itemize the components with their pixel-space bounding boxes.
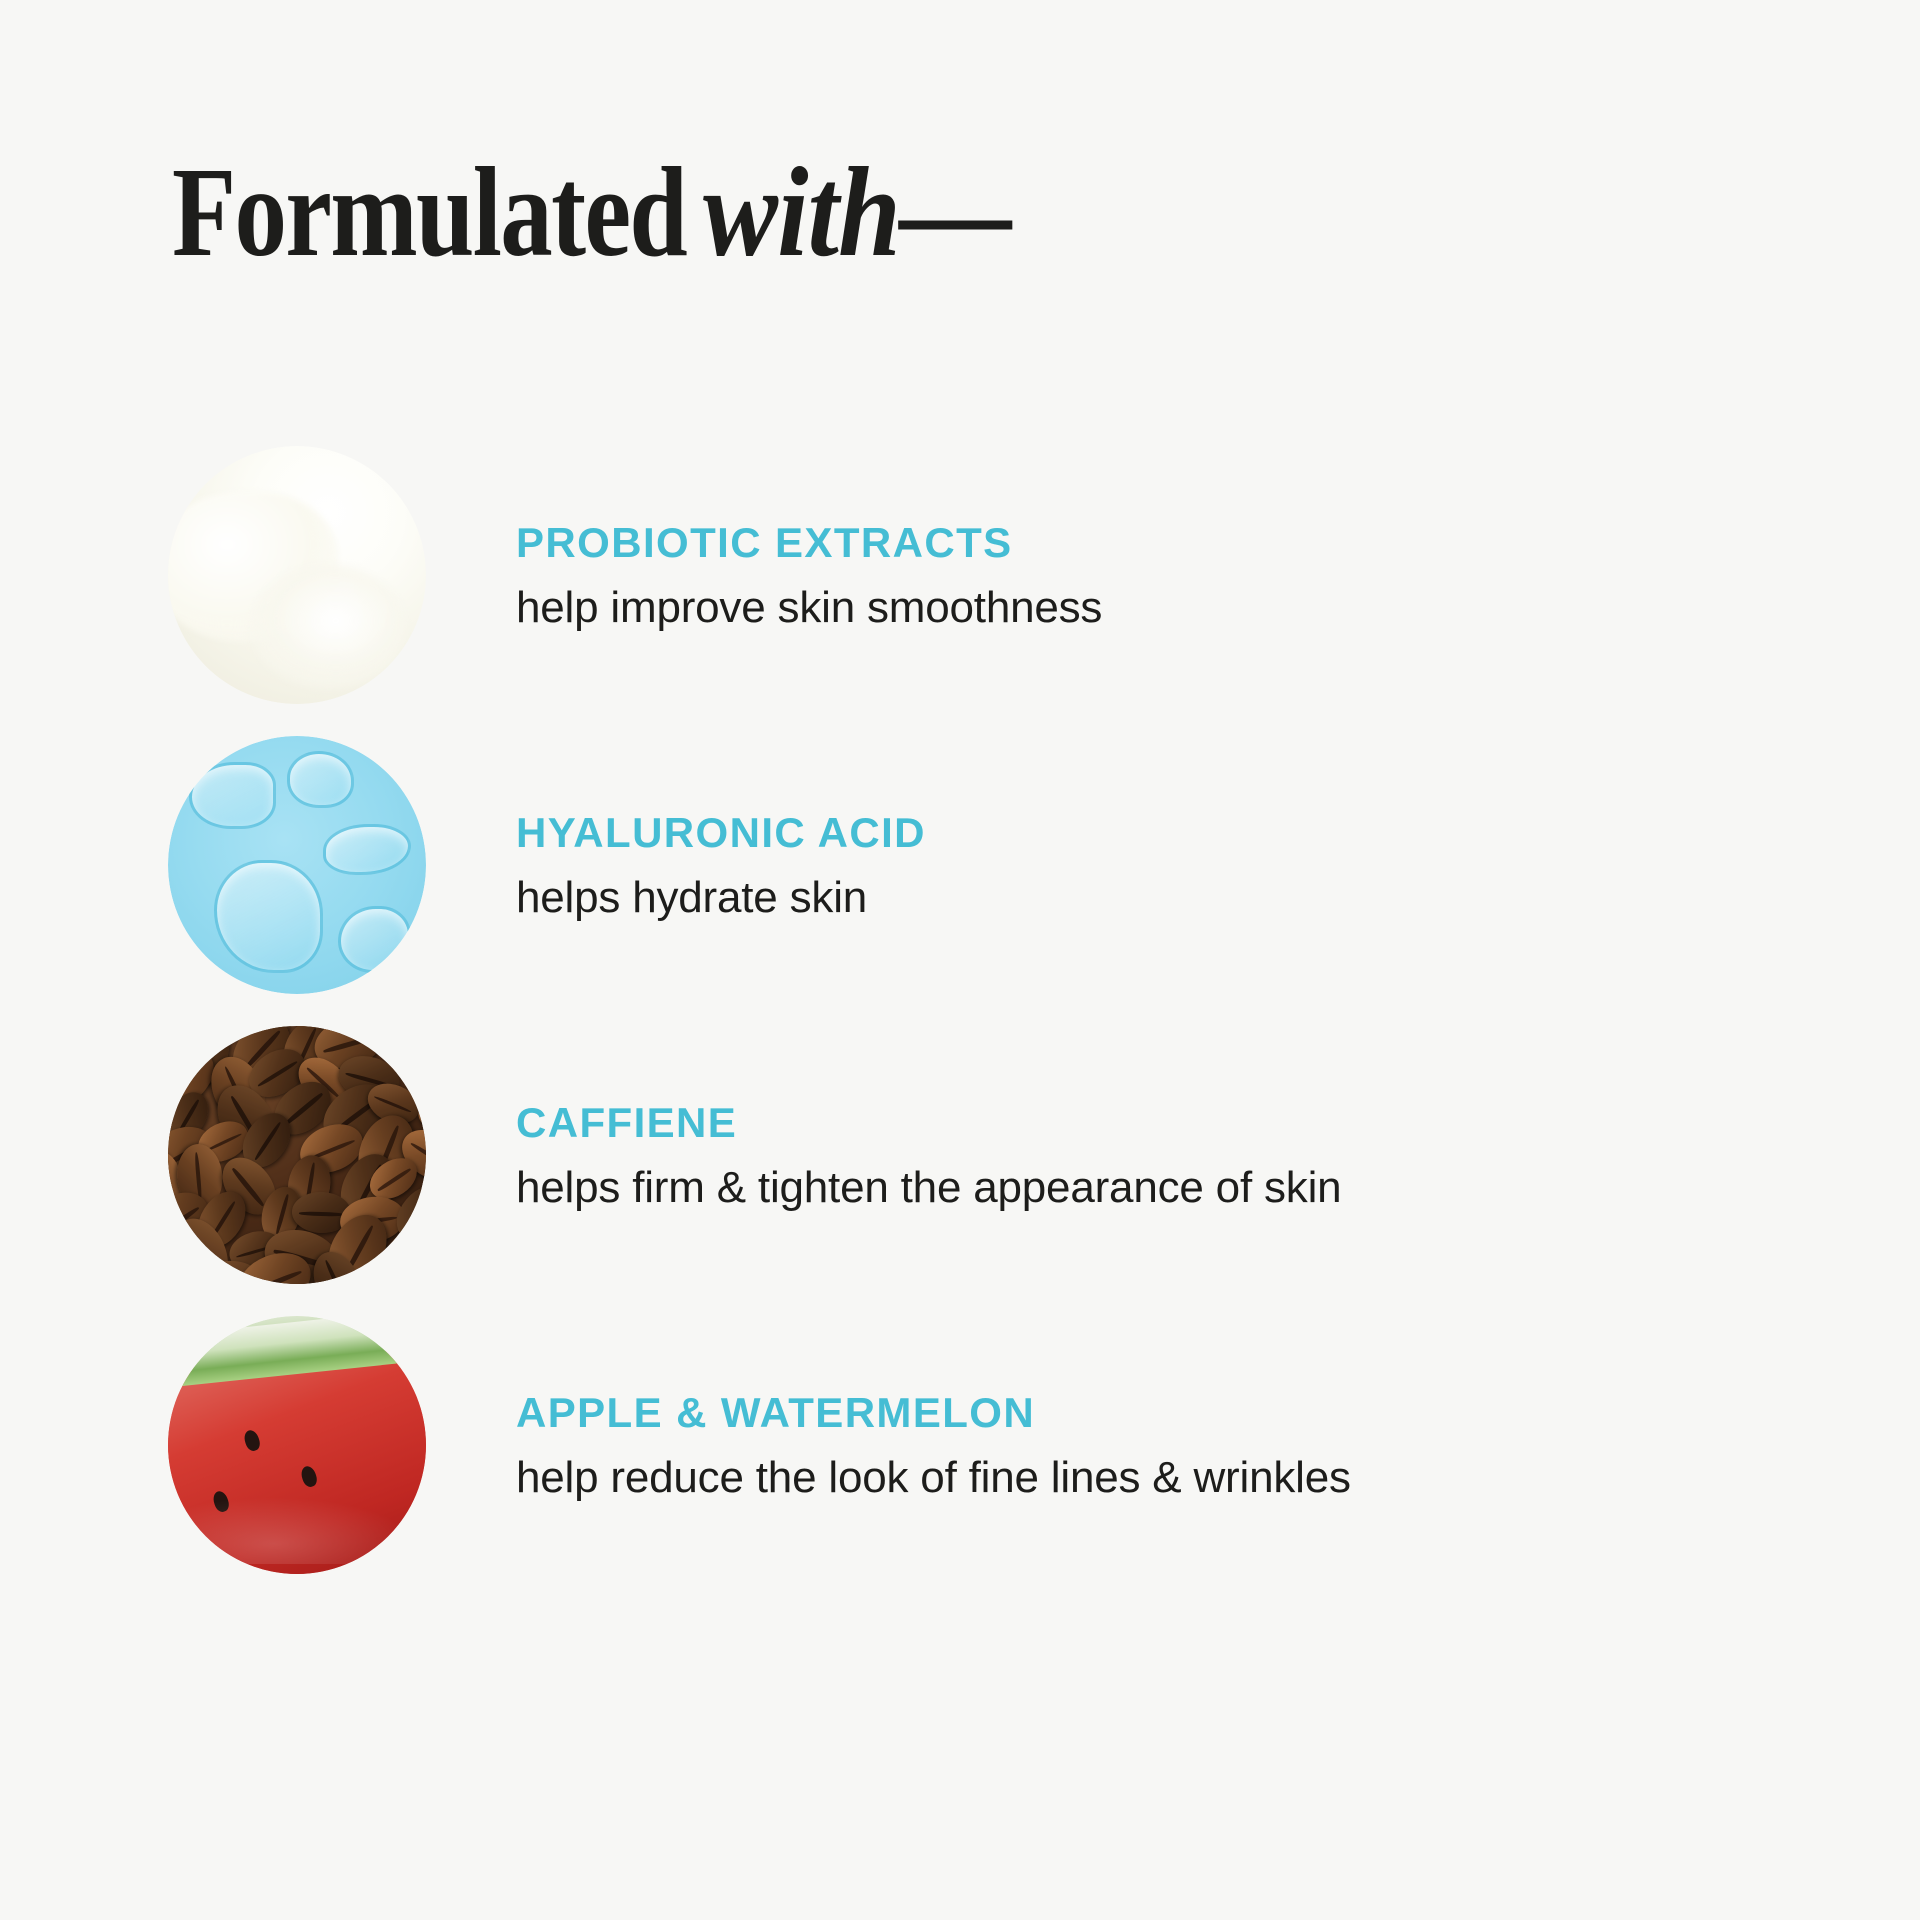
list-item: APPLE & WATERMELON help reduce the look … (0, 1300, 1920, 1590)
ingredient-text-block: CAFFIENE helps firm & tighten the appear… (516, 1095, 1341, 1215)
blue-gel-droplets-icon (168, 736, 426, 994)
gel-droplet-icon (214, 860, 322, 974)
page-title-main: Formulated (172, 148, 686, 276)
page-title-italic: with— (703, 148, 1012, 276)
gel-droplet-icon (287, 751, 354, 808)
list-item: PROBIOTIC EXTRACTS help improve skin smo… (0, 430, 1920, 720)
ingredient-list: PROBIOTIC EXTRACTS help improve skin smo… (0, 430, 1920, 1590)
watermelon-highlight (178, 1497, 415, 1564)
gel-droplet-icon (189, 762, 277, 829)
ingredient-text-block: PROBIOTIC EXTRACTS help improve skin smo… (516, 515, 1102, 635)
ingredient-text-block: APPLE & WATERMELON help reduce the look … (516, 1385, 1351, 1505)
page-title: Formulatedwith— (172, 148, 1054, 276)
list-item: HYALURONIC ACID helps hydrate skin (0, 720, 1920, 1010)
gel-droplet-icon (338, 906, 410, 973)
watermelon-swatch-image (168, 1316, 426, 1574)
ingredient-description: helps firm & tighten the appearance of s… (516, 1162, 1341, 1215)
hyaluronic-swatch-image (168, 736, 426, 994)
caffeine-swatch-image (168, 1026, 426, 1284)
formulated-with-poster: Formulatedwith— PROBIOTIC EXTRACTS help … (0, 0, 1920, 1920)
cream-dollop-icon (168, 446, 426, 704)
ingredient-description: help improve skin smoothness (516, 582, 1102, 635)
ingredient-description: helps hydrate skin (516, 872, 926, 925)
coffee-beans-icon (168, 1026, 426, 1284)
ingredient-name: PROBIOTIC EXTRACTS (516, 519, 1102, 566)
ingredient-description: help reduce the look of fine lines & wri… (516, 1452, 1351, 1505)
gel-droplet-icon (323, 824, 411, 876)
ingredient-text-block: HYALURONIC ACID helps hydrate skin (516, 805, 926, 925)
list-item: CAFFIENE helps firm & tighten the appear… (0, 1010, 1920, 1300)
ingredient-name: HYALURONIC ACID (516, 809, 926, 856)
ingredient-name: CAFFIENE (516, 1099, 1341, 1146)
watermelon-slice-icon (168, 1316, 426, 1574)
probiotic-swatch-image (168, 446, 426, 704)
ingredient-name: APPLE & WATERMELON (516, 1389, 1351, 1436)
